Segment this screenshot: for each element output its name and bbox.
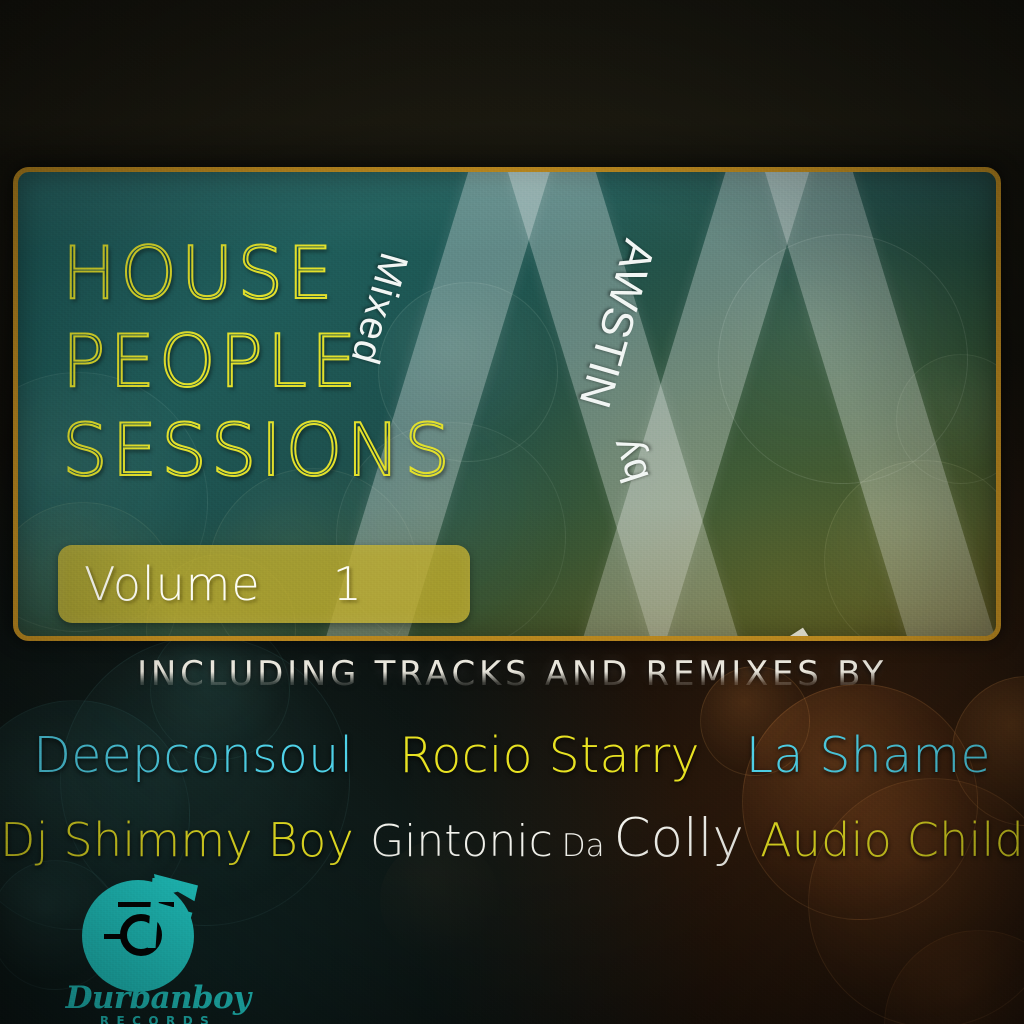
artist-name: Dj Shimmy Boy bbox=[0, 813, 354, 867]
album-cover: Mixed by AWSTIN W HOUSE PEOPLE SESSIONS … bbox=[0, 0, 1024, 1024]
title-line-2: PEOPLE bbox=[62, 326, 454, 397]
volume-label: Volume bbox=[84, 557, 261, 611]
artist-row-1: Deepconsoul Rocio Starry La Shame bbox=[0, 727, 1024, 784]
artist-name: Deepconsoul bbox=[33, 727, 353, 784]
artist-name: La Shame bbox=[746, 727, 991, 784]
w-watermark-bar bbox=[760, 167, 1001, 641]
artist-row-2: Dj Shimmy Boy Gintonic Da Colly Audio Ch… bbox=[0, 808, 1024, 869]
album-title: HOUSE PEOPLE SESSIONS bbox=[62, 238, 454, 503]
bokeh-circle bbox=[884, 930, 1024, 1024]
volume-number: 1 bbox=[333, 557, 362, 611]
gintonic-middle: Da bbox=[562, 828, 605, 864]
credits-text: INCLUDING TRACKS AND REMIXES BY bbox=[137, 654, 887, 694]
title-line-3: SESSIONS bbox=[62, 415, 454, 486]
awstin-logo-chip: W bbox=[749, 628, 836, 641]
label-sub-name: RECORDS bbox=[58, 1014, 258, 1024]
record-label-logo: Durbanboy RECORDS bbox=[58, 878, 258, 1018]
volume-badge: Volume 1 bbox=[58, 545, 470, 623]
artist-name: Audio Child bbox=[760, 813, 1024, 867]
bokeh-circle bbox=[742, 684, 978, 920]
credits-line: INCLUDING TRACKS AND REMIXES BY bbox=[0, 654, 1024, 694]
gintonic-last: Colly bbox=[614, 808, 744, 869]
artist-name: Rocio Starry bbox=[399, 727, 700, 784]
title-line-1: HOUSE bbox=[62, 238, 454, 309]
gintonic-first: Gintonic bbox=[370, 816, 553, 867]
artist-name-gintonic: Gintonic Da Colly bbox=[370, 808, 744, 869]
label-brand-name: Durbanboy bbox=[58, 980, 258, 1016]
